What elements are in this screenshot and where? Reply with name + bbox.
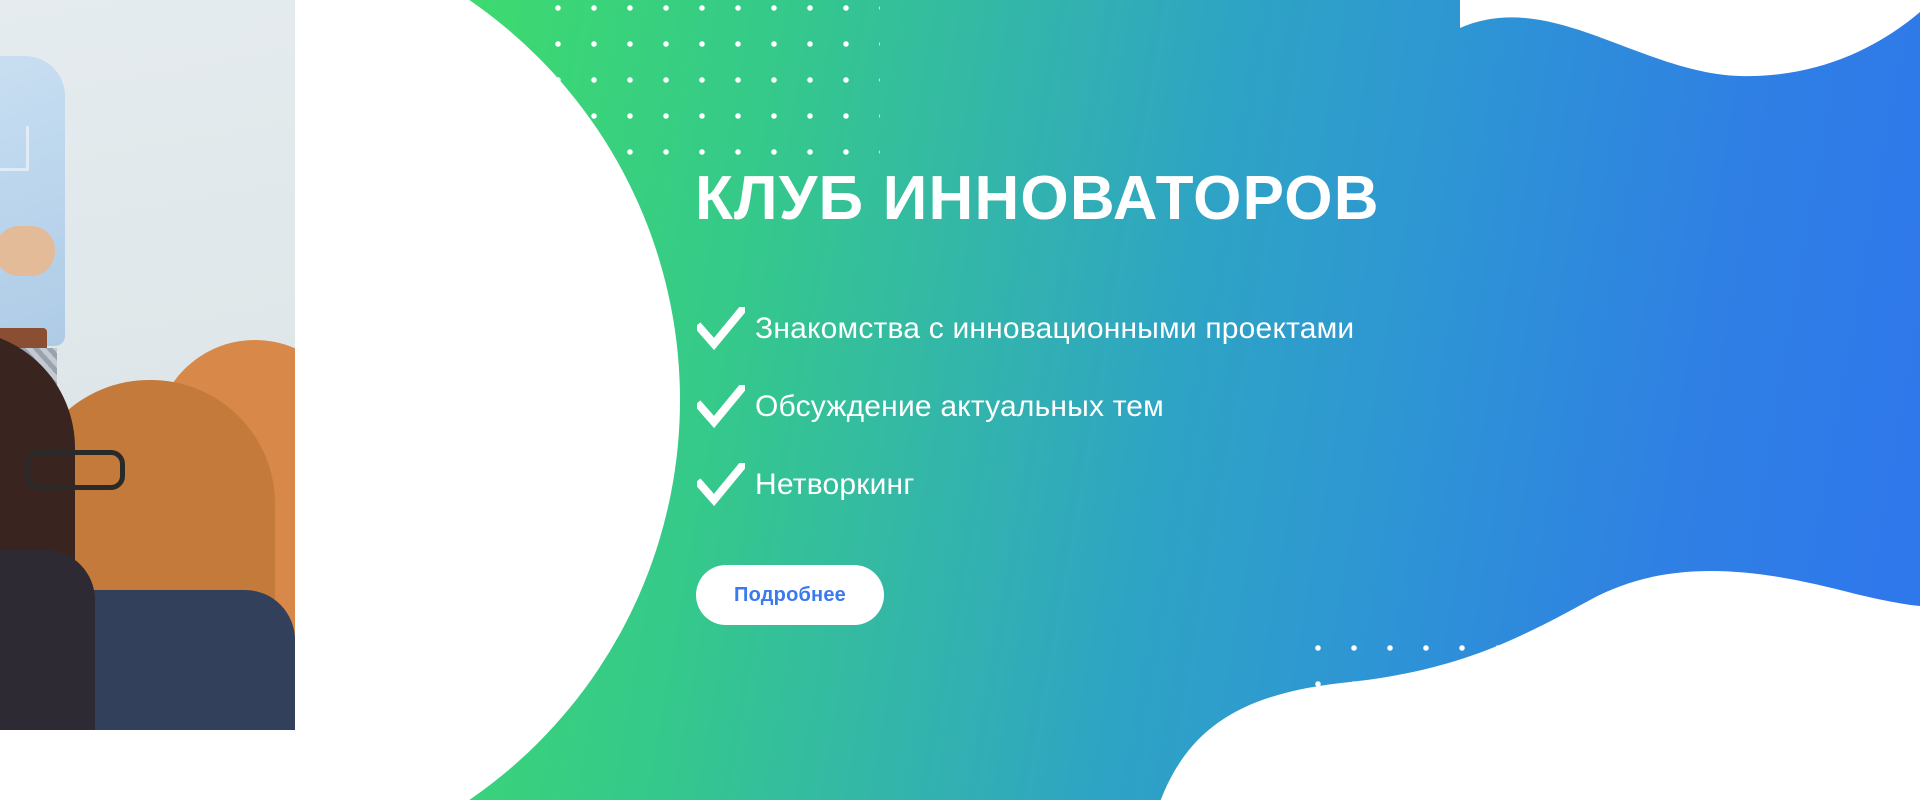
photo-scene xyxy=(0,0,295,730)
check-icon xyxy=(697,307,755,351)
list-item-label: Нетворкинг xyxy=(755,468,914,502)
speaker-audience-photo xyxy=(0,0,620,800)
list-item: Обсуждение актуальных тем xyxy=(697,368,1354,446)
check-icon xyxy=(697,463,755,507)
list-item: Знакомства с инновационными проектами xyxy=(697,290,1354,368)
list-item: Нетворкинг xyxy=(697,446,1354,524)
photo-speaker-shirt xyxy=(0,56,65,346)
feature-list: Знакомства с инновационными проектами Об… xyxy=(697,290,1354,524)
photo-speaker-hand-second xyxy=(0,226,55,276)
page-title: КЛУБ ИННОВАТОРОВ xyxy=(695,168,1380,230)
list-item-label: Знакомства с инновационными проектами xyxy=(755,312,1354,346)
photo-speaker-shirt-pocket xyxy=(0,126,29,171)
promo-banner: КЛУБ ИННОВАТОРОВ Знакомства с инновацион… xyxy=(0,0,1920,800)
list-item-label: Обсуждение актуальных тем xyxy=(755,390,1164,424)
photo-audience-glasses xyxy=(25,450,125,490)
learn-more-button[interactable]: Подробнее xyxy=(696,565,884,625)
photo-audience-member-2-body xyxy=(0,550,95,730)
check-icon xyxy=(697,385,755,429)
banner-content: КЛУБ ИННОВАТОРОВ Знакомства с инновацион… xyxy=(695,0,1875,800)
